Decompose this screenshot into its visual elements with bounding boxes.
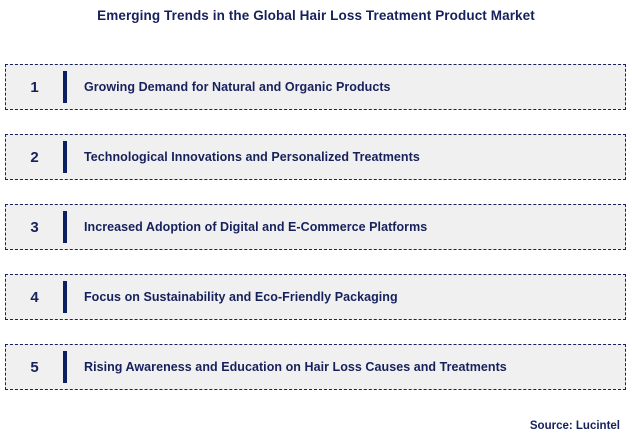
trend-label: Growing Demand for Natural and Organic P… — [67, 80, 391, 94]
trend-label: Rising Awareness and Education on Hair L… — [67, 360, 507, 374]
source-attribution: Source: Lucintel — [530, 420, 620, 432]
trend-row: 5 Rising Awareness and Education on Hair… — [5, 344, 626, 390]
trend-number: 4 — [6, 290, 63, 305]
trend-label: Technological Innovations and Personaliz… — [67, 150, 420, 164]
trend-label: Increased Adoption of Digital and E-Comm… — [67, 220, 427, 234]
trend-number: 5 — [6, 360, 63, 375]
trend-row: 1 Growing Demand for Natural and Organic… — [5, 64, 626, 110]
trend-number: 3 — [6, 220, 63, 235]
page-title: Emerging Trends in the Global Hair Loss … — [0, 8, 632, 23]
trend-row: 2 Technological Innovations and Personal… — [5, 134, 626, 180]
trend-number: 2 — [6, 150, 63, 165]
trend-list: 1 Growing Demand for Natural and Organic… — [5, 64, 626, 390]
trend-label: Focus on Sustainability and Eco-Friendly… — [67, 290, 398, 304]
infographic-page: Emerging Trends in the Global Hair Loss … — [0, 0, 632, 442]
trend-row: 4 Focus on Sustainability and Eco-Friend… — [5, 274, 626, 320]
trend-row: 3 Increased Adoption of Digital and E-Co… — [5, 204, 626, 250]
trend-number: 1 — [6, 80, 63, 95]
